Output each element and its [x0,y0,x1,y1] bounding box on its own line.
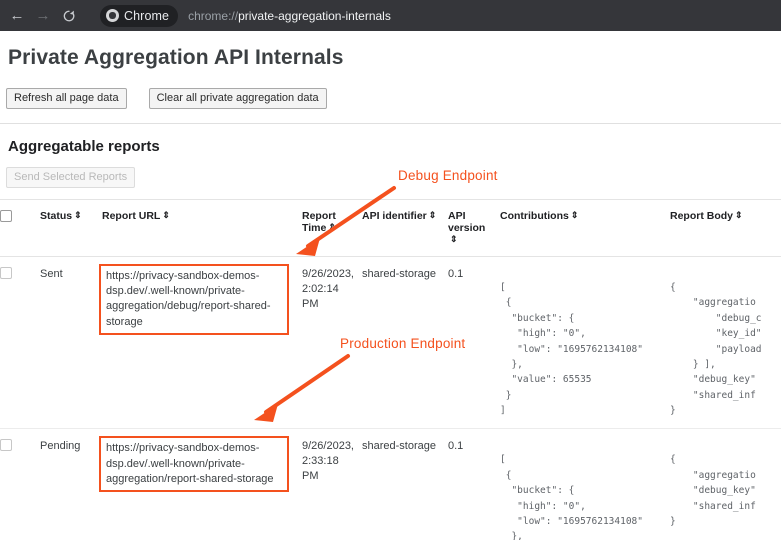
column-header-api-version[interactable]: API version⇕ [448,200,500,257]
section-title-aggregatable-reports: Aggregatable reports [8,138,781,155]
column-header-report-url[interactable]: Report URL⇕ [102,200,302,257]
sort-icon[interactable]: ⇕ [328,223,336,232]
divider [0,123,781,124]
column-header-contributions-label: Contributions [500,210,569,222]
column-header-report-body-label: Report Body [670,210,733,222]
annotation-label-debug-endpoint: Debug Endpoint [398,168,498,183]
column-header-contributions[interactable]: Contributions⇕ [500,200,670,257]
cell-contributions: [ { "bucket": { "high": "0", "low": "169… [500,257,670,429]
cell-api-version: 0.1 [448,429,500,540]
select-all-header [0,200,40,257]
contributions-json: [ { "bucket": { "high": "0", "low": "169… [500,267,664,418]
cell-status: Pending [40,429,102,540]
cell-report-body: { "aggregatio "debug_c "key_id" "payload… [670,257,781,429]
column-header-api-identifier-label: API identifier [362,210,427,222]
report-body-json: { "aggregatio "debug_key" "shared_inf } [670,439,775,529]
sort-icon[interactable]: ⇕ [735,211,743,220]
cell-report-url: https://privacy-sandbox-demos-dsp.dev/.w… [102,429,302,540]
cell-report-body: { "aggregatio "debug_key" "shared_inf } [670,429,781,540]
cell-status: Sent [40,257,102,429]
column-header-report-time[interactable]: Report Time⇕ [302,200,362,257]
report-url-highlighted[interactable]: https://privacy-sandbox-demos-dsp.dev/.w… [99,436,289,492]
sort-icon[interactable]: ⇕ [162,211,170,220]
chrome-logo-icon [106,9,119,22]
cell-contributions: [ { "bucket": { "high": "0", "low": "169… [500,429,670,540]
browser-toolbar: ← → Chrome chrome://private-aggregation-… [0,0,781,31]
page-title: Private Aggregation API Internals [8,46,781,70]
forward-icon: → [30,3,56,29]
annotation-label-production-endpoint: Production Endpoint [340,336,465,351]
url-path: private-aggregation-internals [238,9,391,23]
page-content: Private Aggregation API Internals Refres… [0,31,781,540]
url-scheme: chrome:// [188,9,238,23]
chrome-chip-label: Chrome [124,9,169,23]
report-body-json: { "aggregatio "debug_c "key_id" "payload… [670,267,775,418]
cell-report-time: 9/26/2023, 2:33:18 PM [302,429,362,540]
column-header-status[interactable]: Status⇕ [40,200,102,257]
row-checkbox[interactable] [0,267,12,279]
column-header-status-label: Status [40,210,72,222]
chrome-origin-chip[interactable]: Chrome [100,5,178,27]
sort-icon[interactable]: ⇕ [74,211,82,220]
row-checkbox[interactable] [0,439,12,451]
back-icon[interactable]: ← [4,3,30,29]
cell-api-identifier: shared-storage [362,429,448,540]
sort-icon[interactable]: ⇕ [450,235,458,244]
refresh-all-page-data-button[interactable]: Refresh all page data [6,88,127,109]
page-action-buttons: Refresh all page data Clear all private … [6,88,781,109]
omnibox[interactable]: Chrome chrome://private-aggregation-inte… [92,4,781,27]
address-bar-url[interactable]: chrome://private-aggregation-internals [188,9,391,23]
aggregatable-reports-table: Status⇕ Report URL⇕ Report Time⇕ API ide… [0,199,781,540]
table-header-row: Status⇕ Report URL⇕ Report Time⇕ API ide… [0,200,781,257]
column-header-report-body[interactable]: Report Body⇕ [670,200,781,257]
row-select-cell [0,429,40,540]
report-url-highlighted[interactable]: https://privacy-sandbox-demos-dsp.dev/.w… [99,264,289,335]
column-header-api-version-label: API version [448,210,485,234]
select-all-checkbox[interactable] [0,210,12,222]
column-header-api-identifier[interactable]: API identifier⇕ [362,200,448,257]
send-selected-reports-button[interactable]: Send Selected Reports [6,167,135,188]
cell-report-url: https://privacy-sandbox-demos-dsp.dev/.w… [102,257,302,429]
table-row[interactable]: Pending https://privacy-sandbox-demos-ds… [0,429,781,540]
reload-icon[interactable] [56,3,82,29]
clear-all-private-aggregation-data-button[interactable]: Clear all private aggregation data [149,88,327,109]
column-header-report-url-label: Report URL [102,210,160,222]
row-select-cell [0,257,40,429]
contributions-json: [ { "bucket": { "high": "0", "low": "169… [500,439,664,540]
sort-icon[interactable]: ⇕ [429,211,437,220]
sort-icon[interactable]: ⇕ [571,211,579,220]
